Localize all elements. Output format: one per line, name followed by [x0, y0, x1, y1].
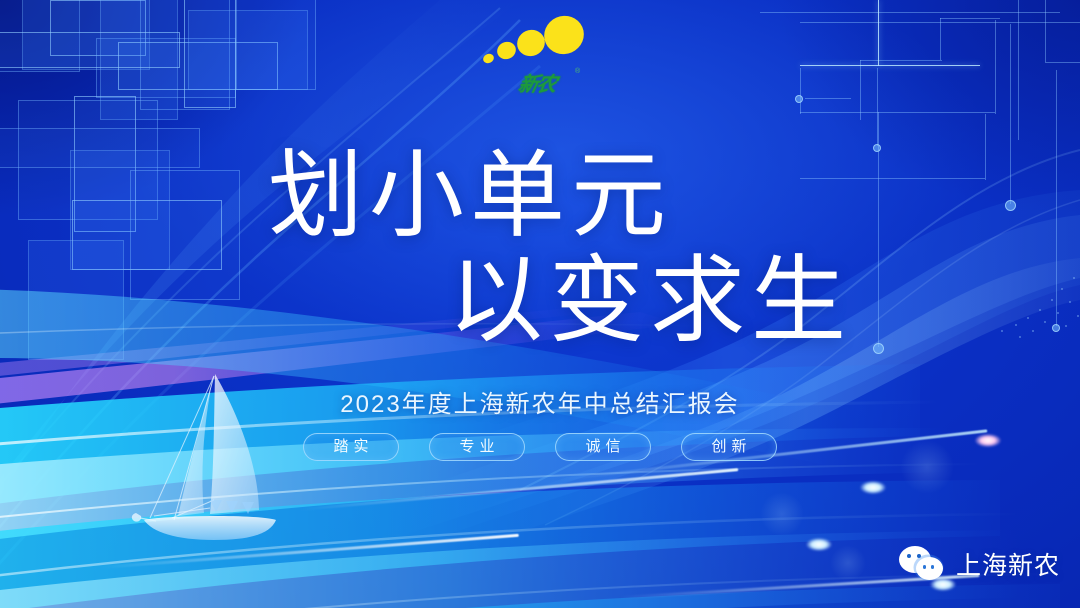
- wechat-bubble-front: [916, 557, 943, 580]
- headline-line-2: 以变求生: [0, 253, 1080, 350]
- value-badge-1[interactable]: 踏实: [303, 433, 399, 461]
- wechat-account-footer[interactable]: 上海新农: [899, 546, 1060, 582]
- headline-line-1: 划小单元: [0, 148, 1080, 245]
- value-badge-4[interactable]: 创新: [681, 433, 777, 461]
- logo-wordmark: 新农: [516, 68, 558, 97]
- logo-trademark: ®: [575, 68, 580, 75]
- logo-dot-2: [494, 39, 518, 62]
- event-subtitle: 2023年度上海新农年中总结汇报会: [0, 384, 1080, 419]
- logo-dot-4: [538, 10, 590, 61]
- headline: 划小单元 以变求生: [0, 148, 1080, 350]
- wechat-account-name: 上海新农: [956, 546, 1060, 582]
- logo-dot-1: [482, 52, 496, 65]
- value-badge-2[interactable]: 专业: [429, 433, 525, 461]
- poster-canvas: 新农 ® 划小单元 以变求生 2023年度上海新农年中总结汇报会 踏实 专业 诚…: [0, 0, 1080, 608]
- brand-logo: 新农 ®: [483, 14, 603, 96]
- value-badge-3[interactable]: 诚信: [555, 433, 651, 461]
- wechat-icon: [899, 546, 945, 582]
- value-badge-list: 踏实 专业 诚信 创新: [0, 433, 1080, 461]
